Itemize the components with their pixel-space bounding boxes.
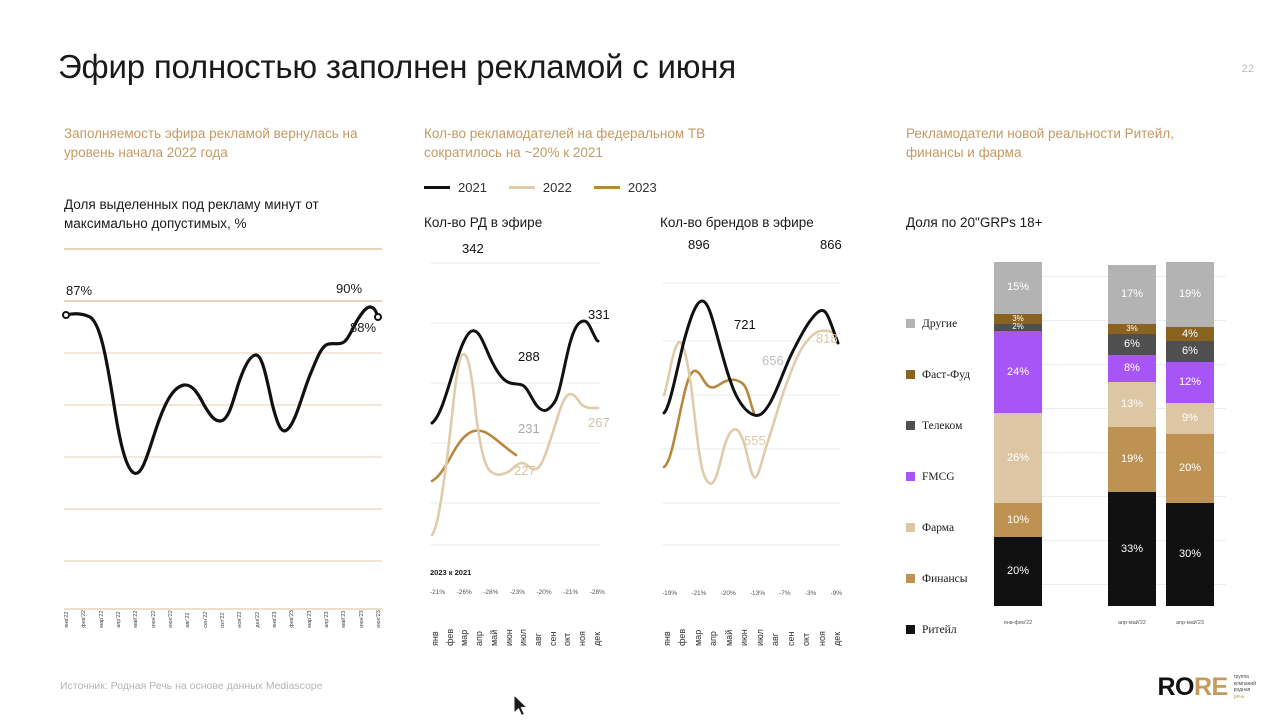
bar-segment-Ритейл[interactable]: 20% <box>994 537 1042 606</box>
delta-value: -20% <box>537 589 552 596</box>
x-axis-month-label: мар <box>693 612 703 646</box>
label-90pct: 90% <box>336 281 362 296</box>
legend-swatch-2023 <box>594 186 620 189</box>
legend-item-Другие[interactable]: Другие <box>906 298 988 349</box>
x-axis-month-label: апр <box>708 612 718 646</box>
x-axis-date-label: июл'22 <box>168 610 174 628</box>
x-axis-date-label: сен'22 <box>203 610 209 628</box>
x-axis-month-label: июл <box>518 612 528 646</box>
chart-1-caption: Доля выделенных под рекламу минут от мак… <box>64 195 394 233</box>
bar-segment-Фарма[interactable]: 26% <box>994 413 1042 502</box>
legend-swatch-icon <box>906 574 915 583</box>
delta-row-brands: -19%-21%-20%-13%-7%-3%-9% <box>662 590 842 597</box>
bar-segment-value: 12% <box>1179 377 1201 388</box>
delta-title: 2023 к 2021 <box>430 568 605 577</box>
x-axis-month-label: май <box>724 612 734 646</box>
bar-segment-value: 19% <box>1121 454 1143 465</box>
label-342: 342 <box>462 241 484 256</box>
start-point-marker <box>63 312 69 318</box>
x-axis-date-label: июн'22 <box>151 610 157 628</box>
legend-swatch-icon <box>906 421 915 430</box>
bar-x-axis-label: янв-фев'22 <box>973 620 1063 626</box>
stacked-bar-column[interactable]: 19%4%6%12%9%20%30% <box>1166 262 1214 606</box>
x-axis-month-label: дек <box>832 612 842 646</box>
chart-3-caption: Кол-во брендов в эфире <box>660 213 814 232</box>
bar-segment-value: 4% <box>1182 329 1198 340</box>
x-axis-month-label: сен <box>548 612 558 646</box>
delta-value: -28% <box>590 589 605 596</box>
delta-value: -28% <box>483 589 498 596</box>
x-axis-month-label: авг <box>533 612 543 646</box>
bar-segment-Финансы[interactable]: 20% <box>1166 434 1214 503</box>
label-88pct: 88% <box>350 320 376 335</box>
legend-label-2022: 2022 <box>543 180 572 195</box>
bar-segment-value: 33% <box>1121 544 1143 555</box>
legend-label: Фаст-Фуд <box>922 369 970 381</box>
column-3-subtitle: Рекламодатели новой реальности Ритейл, ф… <box>906 124 1226 162</box>
bar-segment-value: 15% <box>1007 282 1029 293</box>
delta-value: -26% <box>457 589 472 596</box>
legend-label-2023: 2023 <box>628 180 657 195</box>
legend-item-FMCG[interactable]: FMCG <box>906 451 988 502</box>
bar-segment-Фарма[interactable]: 13% <box>1108 382 1156 427</box>
legend-item-Фаст-Фуд[interactable]: Фаст-Фуд <box>906 349 988 400</box>
legend-swatch-icon <box>906 625 915 634</box>
label-331: 331 <box>588 307 610 322</box>
logo-ro: RO <box>1157 673 1194 701</box>
x-axis-date-label: дек'22 <box>255 610 261 628</box>
x-axis-date-label: фев'23 <box>289 610 295 628</box>
logo-wordmark: RORE <box>1157 675 1227 700</box>
brands-line-chart: 896 721 866 656 555 818 <box>662 245 840 555</box>
series-2023-line <box>664 371 754 467</box>
label-87pct: 87% <box>66 283 92 298</box>
gridlines <box>430 263 600 545</box>
delta-value: -21% <box>430 589 445 596</box>
x-axis-month-label: дек <box>592 612 602 646</box>
x-axis-month-label: май <box>489 612 499 646</box>
x-axis-month-label: окт <box>801 612 811 646</box>
bar-segment-Другие[interactable]: 19% <box>1166 262 1214 327</box>
chart-4-caption: Доля по 20"GRPs 18+ <box>906 213 1042 232</box>
stacked-bar-column[interactable]: 15%3%2%24%26%10%20% <box>994 262 1042 606</box>
x-axis-date-label: апр'23 <box>324 610 330 628</box>
bar-segment-value: 17% <box>1121 289 1143 300</box>
gridlines <box>64 249 382 609</box>
delta-value: -3% <box>805 590 817 597</box>
slide: Эфир полностью заполнен рекламой с июня … <box>0 0 1286 720</box>
legend-item-2023: 2023 <box>594 180 657 195</box>
x-axis-month-label: ноя <box>817 612 827 646</box>
column-1-subtitle: Заполняемость эфира рекламой вернулась н… <box>64 124 404 162</box>
brands-delta-block: -19%-21%-20%-13%-7%-3%-9% <box>662 590 842 597</box>
legend-label: Телеком <box>922 420 962 432</box>
fill-rate-series-line <box>66 307 378 473</box>
x-axis-date-label: апр'22 <box>116 610 122 628</box>
bar-segment-value: 20% <box>1179 463 1201 474</box>
x-axis-month-label: авг <box>770 612 780 646</box>
x-axis-month-label: фев <box>677 612 687 646</box>
label-656: 656 <box>762 353 784 368</box>
logo-subtext: группа компаний родная речь <box>1234 674 1256 700</box>
label-267: 267 <box>588 415 610 430</box>
x-axis-month-label: июн <box>504 612 514 646</box>
bar-segment-value: 6% <box>1124 339 1140 350</box>
logo-re: RE <box>1194 673 1228 701</box>
bar-segment-value: 6% <box>1182 346 1198 357</box>
x-axis-date-label: янв'23 <box>272 610 278 628</box>
label-896: 896 <box>688 237 710 252</box>
bar-segment-Фарма[interactable]: 9% <box>1166 403 1214 434</box>
advertisers-x-axis: янвфевмарапрмайиюниюлавгсеноктноядек <box>430 612 602 646</box>
bar-segment-value: 19% <box>1179 289 1201 300</box>
x-axis-month-label: июн <box>739 612 749 646</box>
legend-label: Ритейл <box>922 624 957 636</box>
x-axis-month-label: мар <box>459 612 469 646</box>
bar-segment-Телеком[interactable]: 2% <box>994 324 1042 331</box>
x-axis-date-label: авг'22 <box>185 610 191 628</box>
category-share-chart: ДругиеФаст-ФудТелекомFMCGФармаФинансыРит… <box>906 262 1226 642</box>
x-axis-month-label: ноя <box>577 612 587 646</box>
bar-segment-Ритейл[interactable]: 30% <box>1166 503 1214 606</box>
x-axis-date-label: янв'22 <box>64 610 70 628</box>
legend-swatch-icon <box>906 370 915 379</box>
bar-segment-value: 10% <box>1007 515 1029 526</box>
delta-value: -7% <box>779 590 791 597</box>
stacked-bar-column[interactable]: 17%3%6%8%13%19%33% <box>1108 265 1156 606</box>
series-2022-line <box>664 331 834 484</box>
stacked-bar-plot: 15%3%2%24%26%10%20%янв-фев'2217%3%6%8%13… <box>994 262 1226 632</box>
advertisers-line-chart: 342 288 331 231 227 267 <box>430 245 600 555</box>
label-231: 231 <box>518 421 540 436</box>
legend-label-2021: 2021 <box>458 180 487 195</box>
label-818: 818 <box>816 331 838 346</box>
label-288: 288 <box>518 349 540 364</box>
x-axis-date-label: ноя'22 <box>237 610 243 628</box>
legend-swatch-icon <box>906 472 915 481</box>
bar-segment-FMCG[interactable]: 24% <box>994 331 1042 414</box>
bar-segment-value: 24% <box>1007 367 1029 378</box>
x-axis-month-label: июл <box>755 612 765 646</box>
x-axis-month-label: окт <box>562 612 572 646</box>
bar-segment-Другие[interactable]: 15% <box>994 262 1042 314</box>
bar-segment-Телеком[interactable]: 6% <box>1108 334 1156 355</box>
delta-value: -21% <box>563 589 578 596</box>
page-title: Эфир полностью заполнен рекламой с июня <box>58 48 736 86</box>
label-227: 227 <box>514 463 536 478</box>
x-axis-date-label: мар'22 <box>99 610 105 628</box>
page-number: 22 <box>1242 63 1254 75</box>
legend-label: Финансы <box>922 573 967 585</box>
legend-label: FMCG <box>922 471 955 483</box>
fill-rate-line-chart: 87% 90% 88% <box>64 245 382 625</box>
x-axis-date-label: окт'22 <box>220 610 226 628</box>
bar-segment-Финансы[interactable]: 10% <box>994 503 1042 537</box>
delta-value: -23% <box>510 589 525 596</box>
bar-segment-Телеком[interactable]: 6% <box>1166 341 1214 362</box>
x-axis-month-label: апр <box>474 612 484 646</box>
line-chart-legend: 2021 2022 2023 <box>424 180 657 195</box>
delta-value: -21% <box>691 590 706 597</box>
advertisers-svg <box>430 245 600 555</box>
label-721: 721 <box>734 317 756 332</box>
legend-item-Телеком[interactable]: Телеком <box>906 400 988 451</box>
legend-label: Фарма <box>922 522 954 534</box>
legend-item-2022: 2022 <box>509 180 572 195</box>
legend-item-2021: 2021 <box>424 180 487 195</box>
legend-item-Финансы[interactable]: Финансы <box>906 553 988 604</box>
legend-swatch-2022 <box>509 186 535 189</box>
advertisers-delta-block: 2023 к 2021 -21%-26%-28%-23%-20%-21%-28% <box>430 568 605 596</box>
logo-sub-line-4: речь <box>1234 694 1256 701</box>
brands-x-axis: янвфевмарапрмайиюниюлавгсеноктноядек <box>662 612 842 646</box>
bar-segment-FMCG[interactable]: 8% <box>1108 355 1156 383</box>
column-2-subtitle: Кол-во рекламодателей на федеральном ТВ … <box>424 124 764 162</box>
bar-segment-value: 3% <box>1126 325 1138 333</box>
delta-value: -20% <box>721 590 736 597</box>
bar-segment-Фаст-Фуд[interactable]: 4% <box>1166 327 1214 341</box>
rore-logo: RORE группа компаний родная речь <box>1157 674 1256 700</box>
bar-segment-Фаст-Фуд[interactable]: 3% <box>1108 324 1156 334</box>
x-axis-date-label: май'23 <box>341 610 347 628</box>
x-axis-month-label: сен <box>786 612 796 646</box>
x-axis-date-label: мар'23 <box>307 610 313 628</box>
brands-svg <box>662 245 840 555</box>
legend-swatch-2021 <box>424 186 450 189</box>
x-axis-date-label: июн'23 <box>359 610 365 628</box>
legend-item-Ритейл[interactable]: Ритейл <box>906 604 988 655</box>
source-note: Источник: Родная Речь на основе данных M… <box>60 680 322 692</box>
mouse-cursor <box>513 694 529 718</box>
delta-value: -13% <box>750 590 765 597</box>
bar-segment-FMCG[interactable]: 12% <box>1166 362 1214 403</box>
bar-segment-Ритейл[interactable]: 33% <box>1108 492 1156 606</box>
bar-segment-value: 30% <box>1179 549 1201 560</box>
legend-swatch-icon <box>906 319 915 328</box>
x-axis-month-label: янв <box>662 612 672 646</box>
x-axis-month-label: фев <box>445 612 455 646</box>
legend-item-Фарма[interactable]: Фарма <box>906 502 988 553</box>
fill-rate-x-axis: янв'22фев'22мар'22апр'22май'22июн'22июл'… <box>64 610 382 628</box>
x-axis-date-label: фев'22 <box>81 610 87 628</box>
x-axis-month-label: янв <box>430 612 440 646</box>
bar-segment-value: 9% <box>1182 413 1198 424</box>
stacked-bar-legend: ДругиеФаст-ФудТелекомFMCGФармаФинансыРит… <box>906 298 988 655</box>
bar-segment-value: 8% <box>1124 363 1140 374</box>
bar-segment-value: 20% <box>1007 566 1029 577</box>
legend-label: Другие <box>922 318 957 330</box>
bar-segment-Финансы[interactable]: 19% <box>1108 427 1156 492</box>
fill-rate-svg <box>64 245 382 625</box>
chart-2-caption: Кол-во РД в эфире <box>424 213 542 232</box>
delta-value: -19% <box>662 590 677 597</box>
bar-segment-Другие[interactable]: 17% <box>1108 265 1156 323</box>
delta-value: -9% <box>830 590 842 597</box>
label-866: 866 <box>820 237 842 252</box>
bar-segment-value: 26% <box>1007 453 1029 464</box>
bar-x-axis-label: апр-май'23 <box>1145 620 1235 626</box>
bar-segment-value: 13% <box>1121 399 1143 410</box>
delta-row-advertisers: -21%-26%-28%-23%-20%-21%-28% <box>430 589 605 596</box>
x-axis-date-label: май'22 <box>133 610 139 628</box>
legend-swatch-icon <box>906 523 915 532</box>
label-555: 555 <box>744 433 766 448</box>
x-axis-date-label: июл'23 <box>376 610 382 628</box>
